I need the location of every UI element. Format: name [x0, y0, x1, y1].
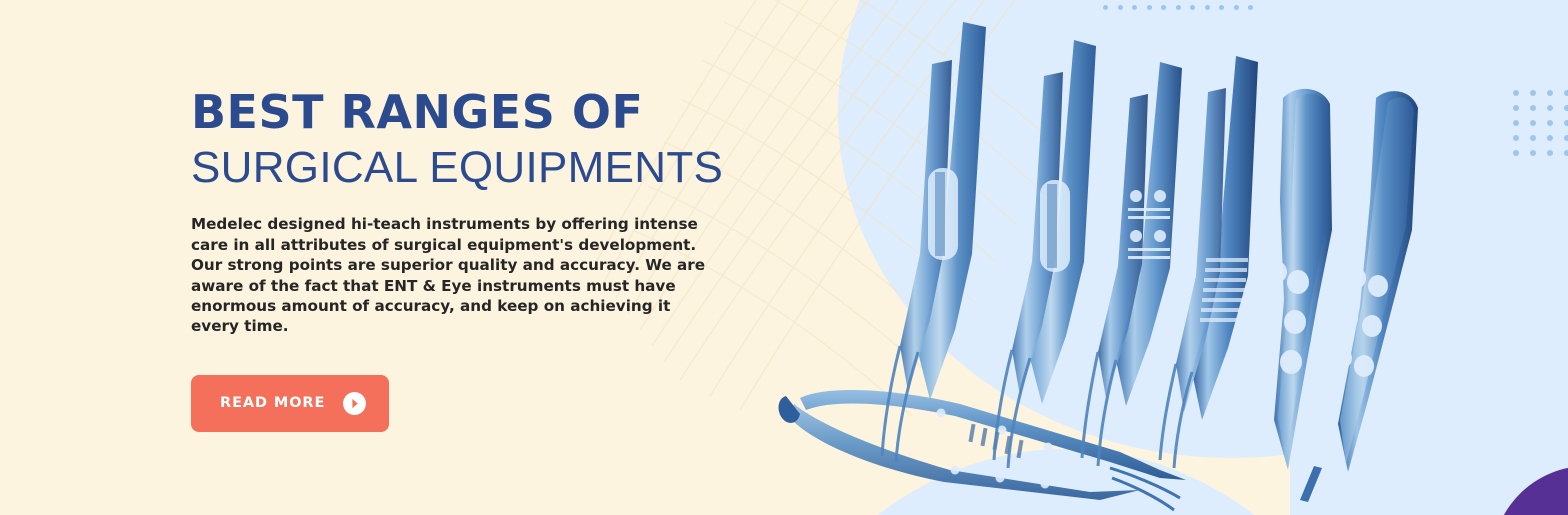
spring-micro-scissors-icon — [779, 390, 1186, 510]
surgical-forceps-icon — [1098, 62, 1182, 406]
page-title-line-1: BEST RANGES OF — [191, 88, 731, 137]
arrow-right-circle-icon — [342, 391, 367, 416]
hero-content: BEST RANGES OF SURGICAL EQUIPMENTS Medel… — [191, 88, 731, 432]
surgical-forceps-icon — [900, 22, 986, 400]
read-more-label: READ MORE — [220, 395, 325, 411]
surgical-forceps-icon — [1012, 40, 1096, 404]
hero-description: Medelec designed hi-teach instruments by… — [191, 214, 715, 336]
hero-banner: BEST RANGES OF SURGICAL EQUIPMENTS Medel… — [0, 0, 1568, 515]
surgical-forceps-icon — [1258, 89, 1332, 470]
read-more-button[interactable]: READ MORE — [191, 375, 389, 432]
surgical-forceps-icon — [1176, 56, 1258, 420]
page-title-line-2: SURGICAL EQUIPMENTS — [191, 141, 731, 195]
